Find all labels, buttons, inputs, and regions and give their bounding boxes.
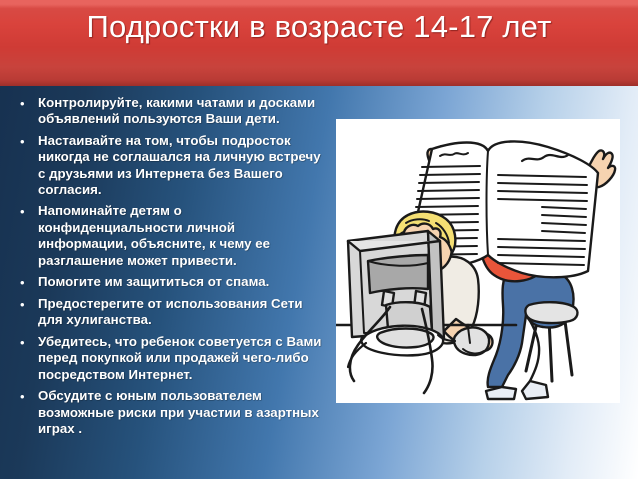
list-item-text: Напоминайте детям о конфиденциальности л… — [38, 203, 326, 269]
cartoon-family-computer-graphic — [336, 119, 620, 403]
page-title: Подростки в возрасте 14-17 лет — [0, 9, 638, 45]
list-item: • Предостерегите от использования Сети д… — [14, 296, 326, 329]
list-item: • Помогите им защититься от спама. — [14, 274, 326, 291]
bullet-dot-icon: • — [14, 133, 38, 150]
illustration-image — [336, 119, 620, 403]
list-item-text: Предостерегите от использования Сети для… — [38, 296, 326, 329]
bullet-dot-icon: • — [14, 95, 38, 112]
list-item: • Обсудите с юным пользователем возможны… — [14, 388, 326, 437]
bullet-dot-icon: • — [14, 334, 38, 351]
list-item: • Убедитесь, что ребенок советуется с Ва… — [14, 334, 326, 383]
list-item-text: Обсудите с юным пользователем возможные … — [38, 388, 326, 437]
list-item-text: Помогите им защититься от спама. — [38, 274, 326, 290]
list-item: • Контролируйте, какими чатами и досками… — [14, 95, 326, 128]
list-item-text: Настаивайте на том, чтобы подросток нико… — [38, 133, 326, 199]
bullet-list: • Контролируйте, какими чатами и досками… — [14, 95, 326, 442]
title-banner: Подростки в возрасте 14-17 лет — [0, 0, 638, 86]
slide-canvas: Подростки в возрасте 14-17 лет • Контрол… — [0, 0, 638, 479]
list-item-text: Контролируйте, какими чатами и досками о… — [38, 95, 326, 128]
bullet-dot-icon: • — [14, 274, 38, 291]
bullet-dot-icon: • — [14, 296, 38, 313]
list-item: • Напоминайте детям о конфиденциальности… — [14, 203, 326, 269]
list-item: • Настаивайте на том, чтобы подросток ни… — [14, 133, 326, 199]
bullet-dot-icon: • — [14, 203, 38, 220]
bullet-dot-icon: • — [14, 388, 38, 405]
list-item-text: Убедитесь, что ребенок советуется с Вами… — [38, 334, 326, 383]
